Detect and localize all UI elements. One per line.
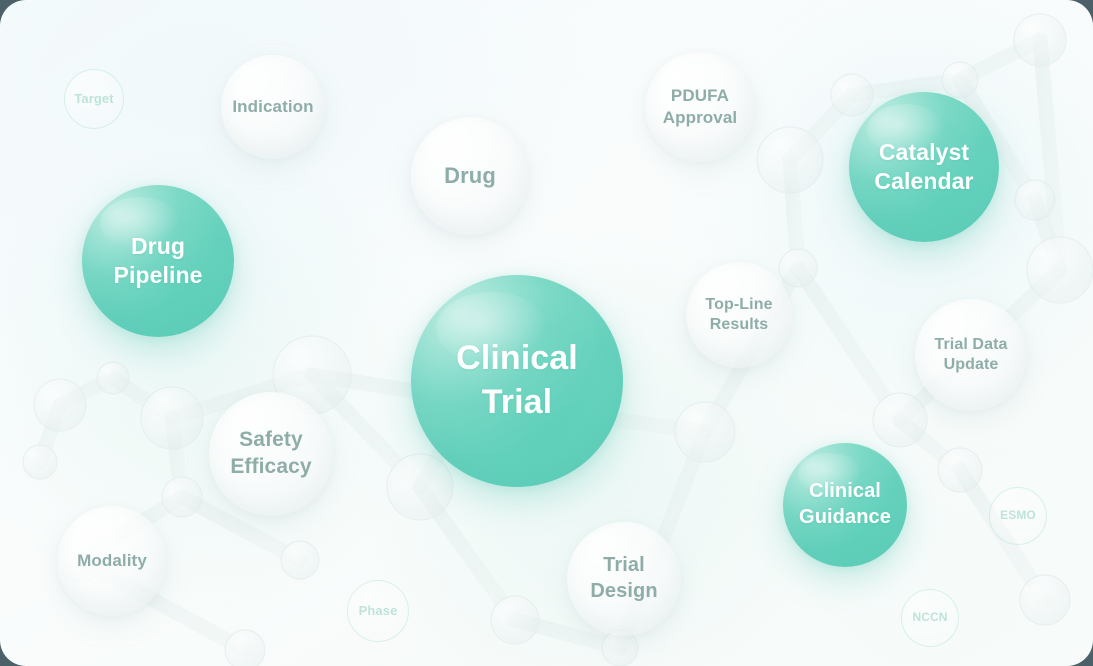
bubble-label-safety-efficacy: Safety Efficacy	[230, 427, 311, 481]
molecule-node	[162, 477, 202, 517]
molecule-node	[873, 393, 927, 447]
bubble-target[interactable]: Target	[64, 69, 124, 129]
molecule-node	[225, 630, 265, 666]
molecule-bond	[960, 40, 1040, 80]
molecule-node	[757, 127, 823, 193]
molecule-bond	[172, 418, 182, 497]
molecule-node	[1015, 180, 1055, 220]
bubble-label-trial-design: Trial Design	[590, 553, 657, 604]
bubble-label-phase: Phase	[359, 603, 398, 620]
bubble-drug[interactable]: Drug	[411, 117, 529, 235]
bubble-esmo[interactable]: ESMO	[989, 487, 1047, 545]
molecule-bond	[1040, 40, 1060, 270]
bubble-clinical-trial[interactable]: Clinical Trial	[411, 275, 623, 487]
molecule-node	[675, 402, 735, 462]
molecule-node	[831, 74, 873, 116]
bubble-label-catalyst-calendar: Catalyst Calendar	[874, 138, 973, 197]
bubble-label-clinical-guidance: Clinical Guidance	[799, 479, 891, 530]
molecule-node	[1020, 575, 1070, 625]
bubble-clinical-guidance[interactable]: Clinical Guidance	[783, 443, 907, 567]
bubble-indication[interactable]: Indication	[221, 55, 325, 159]
molecule-node	[281, 541, 319, 579]
molecule-bond	[60, 378, 113, 405]
bubble-catalyst-calendar[interactable]: Catalyst Calendar	[849, 92, 999, 242]
bubble-modality[interactable]: Modality	[57, 506, 167, 616]
molecule-node	[1027, 237, 1093, 303]
bubble-label-indication: Indication	[232, 96, 313, 118]
molecule-bond	[113, 378, 172, 418]
molecule-node	[23, 445, 57, 479]
bubble-drug-pipeline[interactable]: Drug Pipeline	[82, 185, 234, 337]
bubble-label-trial-data-update: Trial Data Update	[934, 335, 1007, 376]
bubble-top-line-results[interactable]: Top-Line Results	[686, 262, 792, 368]
molecule-node	[387, 454, 453, 520]
bubble-label-esmo: ESMO	[1000, 508, 1036, 523]
molecule-node	[1014, 14, 1066, 66]
bubble-label-drug: Drug	[444, 162, 496, 190]
molecule-bond	[852, 80, 960, 95]
molecule-node	[97, 362, 129, 394]
bubble-trial-design[interactable]: Trial Design	[567, 522, 681, 636]
bubble-pdufa-approval[interactable]: PDUFA Approval	[645, 52, 755, 162]
molecule-node	[491, 596, 539, 644]
bubble-phase[interactable]: Phase	[347, 580, 409, 642]
molecule-node	[34, 379, 86, 431]
molecule-bond	[1035, 200, 1060, 270]
bubble-label-nccn: NCCN	[912, 610, 947, 625]
bubble-label-drug-pipeline: Drug Pipeline	[114, 232, 203, 291]
bubble-safety-efficacy[interactable]: Safety Efficacy	[209, 392, 333, 516]
bubble-label-top-line-results: Top-Line Results	[705, 295, 772, 336]
molecule-node	[141, 387, 203, 449]
bubble-label-pdufa-approval: PDUFA Approval	[663, 85, 737, 129]
molecule-node	[779, 249, 817, 287]
molecule-node	[942, 62, 978, 98]
bubble-cloud-canvas: TargetIndicationDrugPDUFA ApprovalCataly…	[0, 0, 1093, 666]
molecule-node	[938, 448, 982, 492]
bubble-label-modality: Modality	[77, 550, 147, 572]
molecule-bond	[420, 487, 515, 620]
bubble-label-target: Target	[74, 91, 113, 108]
molecule-bond	[40, 405, 60, 462]
molecule-bond	[790, 95, 852, 160]
molecule-bond	[798, 268, 900, 420]
molecule-bond	[790, 160, 798, 268]
bubble-trial-data-update[interactable]: Trial Data Update	[915, 299, 1027, 411]
molecule-bond	[900, 420, 960, 470]
bubble-label-clinical-trial: Clinical Trial	[456, 337, 578, 424]
bubble-nccn[interactable]: NCCN	[901, 589, 959, 647]
